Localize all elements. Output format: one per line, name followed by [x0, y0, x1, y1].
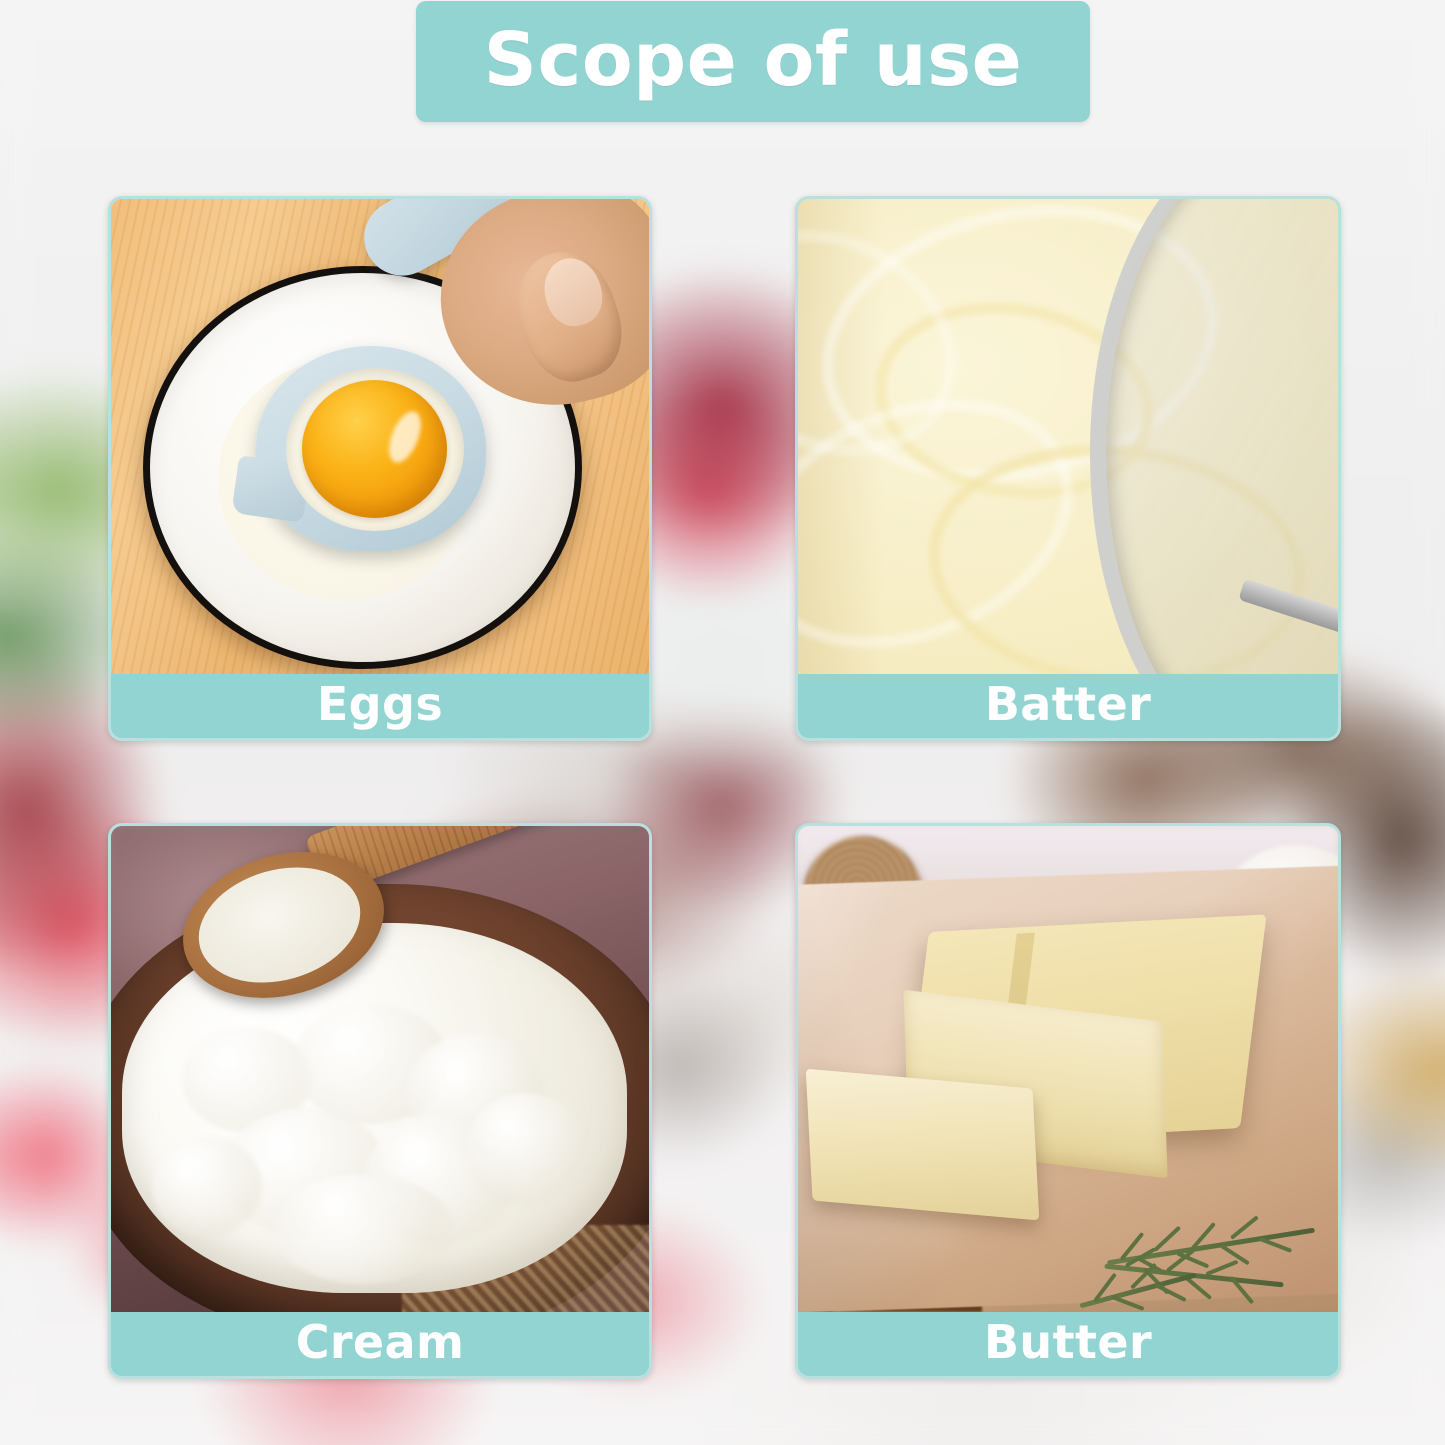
tile-batter[interactable]: Batter: [795, 196, 1341, 741]
tile-butter[interactable]: Butter: [795, 823, 1341, 1379]
tile-caption-batter: Batter: [798, 674, 1338, 738]
butter-photo: [798, 826, 1338, 1312]
cream-swirl: [273, 1174, 453, 1284]
page-title: Scope of use: [484, 23, 1023, 97]
egg-yolk: [302, 380, 447, 518]
yolk-highlight-icon: [383, 407, 427, 467]
tile-caption-butter: Butter: [798, 1312, 1338, 1376]
cream-photo: [111, 826, 649, 1312]
tile-caption-eggs-label: Eggs: [317, 681, 443, 727]
tile-caption-batter-label: Batter: [985, 681, 1151, 727]
tile-caption-cream: Cream: [111, 1312, 649, 1376]
eggs-photo: [111, 199, 649, 674]
tile-eggs[interactable]: Eggs: [108, 196, 652, 741]
tile-caption-butter-label: Butter: [984, 1319, 1152, 1365]
cream-swirl: [152, 1137, 262, 1237]
tile-caption-eggs: Eggs: [111, 674, 649, 738]
scope-of-use-poster: Scope of use Eggs: [0, 0, 1445, 1445]
butter-slice: [806, 1068, 1039, 1220]
whipped-cream: [122, 923, 628, 1292]
batter-photo: [798, 199, 1338, 674]
tile-caption-cream-label: Cream: [296, 1319, 465, 1365]
page-title-banner: Scope of use: [416, 1, 1090, 122]
cream-swirl: [466, 1093, 586, 1203]
tile-cream[interactable]: Cream: [108, 823, 652, 1379]
